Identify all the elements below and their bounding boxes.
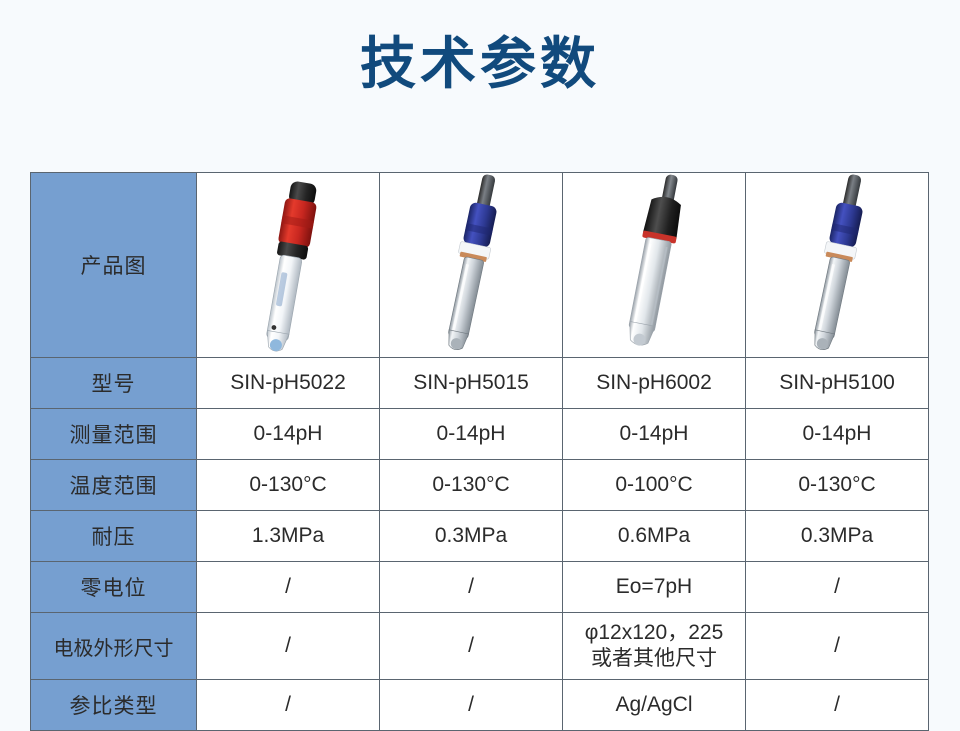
- dimensions-line-2: 或者其他尺寸: [567, 646, 741, 672]
- row-label-dimensions: 电极外形尺寸: [31, 613, 197, 680]
- ph-probe-black-icon: [563, 173, 746, 357]
- table-row-temperature-range: 温度范围 0-130°C 0-130°C 0-100°C 0-130°C: [31, 460, 929, 511]
- temperature-cell-4: 0-130°C: [746, 460, 929, 511]
- pressure-cell-1: 1.3MPa: [197, 511, 380, 562]
- row-label-reference-type: 参比类型: [31, 680, 197, 731]
- product-image-cell-3: [563, 173, 746, 358]
- range-cell-2: 0-14pH: [380, 409, 563, 460]
- model-cell-4: SIN-pH5100: [746, 358, 929, 409]
- temperature-cell-3: 0-100°C: [563, 460, 746, 511]
- row-label-zero-potential: 零电位: [31, 562, 197, 613]
- table-row-pressure: 耐压 1.3MPa 0.3MPa 0.6MPa 0.3MPa: [31, 511, 929, 562]
- pressure-cell-2: 0.3MPa: [380, 511, 563, 562]
- technical-parameters-table: 产品图: [30, 172, 929, 731]
- product-image-cell-1: [197, 173, 380, 358]
- ph-probe-blue-icon: [746, 173, 929, 357]
- dimensions-cell-3: φ12x120，225 或者其他尺寸: [563, 613, 746, 680]
- table-row-reference-type: 参比类型 / / Ag/AgCl /: [31, 680, 929, 731]
- row-label-model: 型号: [31, 358, 197, 409]
- zero-potential-cell-3: Eo=7pH: [563, 562, 746, 613]
- zero-potential-cell-1: /: [197, 562, 380, 613]
- table-row-dimensions: 电极外形尺寸 / / φ12x120，225 或者其他尺寸 /: [31, 613, 929, 680]
- range-cell-4: 0-14pH: [746, 409, 929, 460]
- row-label-product-image: 产品图: [31, 173, 197, 358]
- table-row-product-image: 产品图: [31, 173, 929, 358]
- ph-probe-blue-icon: [380, 173, 563, 357]
- pressure-cell-3: 0.6MPa: [563, 511, 746, 562]
- dimensions-line-1: φ12x120，225: [567, 620, 741, 646]
- temperature-cell-2: 0-130°C: [380, 460, 563, 511]
- row-label-pressure: 耐压: [31, 511, 197, 562]
- pressure-cell-4: 0.3MPa: [746, 511, 929, 562]
- model-cell-2: SIN-pH5015: [380, 358, 563, 409]
- table-row-zero-potential: 零电位 / / Eo=7pH /: [31, 562, 929, 613]
- range-cell-3: 0-14pH: [563, 409, 746, 460]
- reference-type-cell-4: /: [746, 680, 929, 731]
- model-cell-3: SIN-pH6002: [563, 358, 746, 409]
- row-label-measuring-range: 测量范围: [31, 409, 197, 460]
- row-label-temperature-range: 温度范围: [31, 460, 197, 511]
- model-cell-1: SIN-pH5022: [197, 358, 380, 409]
- zero-potential-cell-2: /: [380, 562, 563, 613]
- dimensions-cell-4: /: [746, 613, 929, 680]
- dimensions-cell-1: /: [197, 613, 380, 680]
- reference-type-cell-3: Ag/AgCl: [563, 680, 746, 731]
- zero-potential-cell-4: /: [746, 562, 929, 613]
- reference-type-cell-2: /: [380, 680, 563, 731]
- temperature-cell-1: 0-130°C: [197, 460, 380, 511]
- ph-probe-red-icon: [197, 173, 380, 357]
- reference-type-cell-1: /: [197, 680, 380, 731]
- table-row-measuring-range: 测量范围 0-14pH 0-14pH 0-14pH 0-14pH: [31, 409, 929, 460]
- spec-table-container: 产品图: [30, 172, 928, 731]
- product-image-cell-4: [746, 173, 929, 358]
- dimensions-cell-2: /: [380, 613, 563, 680]
- product-image-cell-2: [380, 173, 563, 358]
- range-cell-1: 0-14pH: [197, 409, 380, 460]
- page-title: 技术参数: [0, 0, 960, 92]
- table-row-model: 型号 SIN-pH5022 SIN-pH5015 SIN-pH6002 SIN-…: [31, 358, 929, 409]
